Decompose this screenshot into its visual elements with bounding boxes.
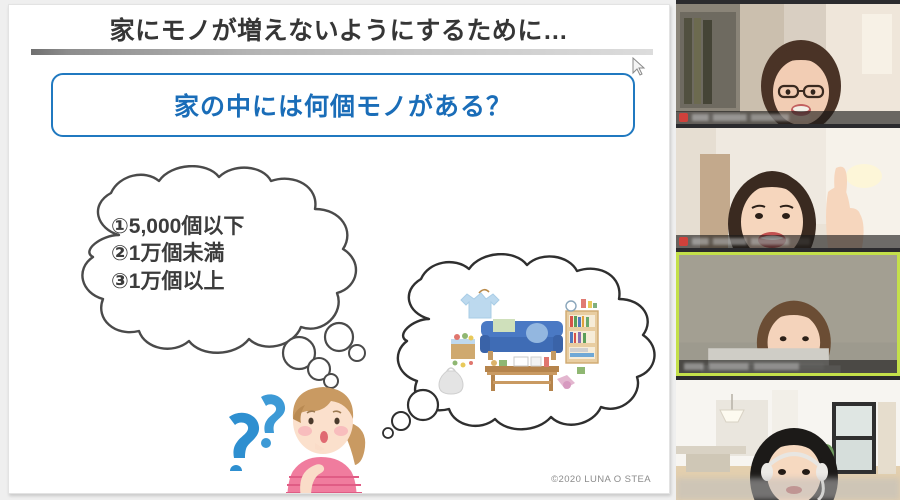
participant-name-1 <box>692 114 810 121</box>
participant-strip <box>676 0 900 500</box>
video-call-window: 家にモノが増えないようにするために… 家の中には何個モノがある？ ①5,000個… <box>0 0 900 500</box>
answer-options-list: ①5,000個以下 ②1万個未満 ③1万個以上 <box>111 213 351 295</box>
participant-tile-2[interactable] <box>676 128 900 248</box>
participant-name-3 <box>684 363 824 370</box>
option-3: ③1万個以上 <box>111 268 351 295</box>
presentation-slide: 家にモノが増えないようにするために… 家の中には何個モノがある？ ①5,000個… <box>8 4 670 494</box>
participant-video-2 <box>676 128 900 248</box>
participant-tile-3[interactable] <box>676 252 900 376</box>
mute-icon-1 <box>679 113 688 122</box>
slide-title: 家にモノが増えないようにするために… <box>9 11 669 47</box>
participant-tile-4[interactable] <box>676 380 900 500</box>
thinking-girl-illustration <box>267 377 377 494</box>
mute-icon-2 <box>679 237 688 246</box>
room-thought-cloud <box>381 253 670 443</box>
participant-video-1 <box>676 4 900 124</box>
participant-video-3 <box>679 255 897 373</box>
mouse-pointer-icon <box>632 57 646 77</box>
copyright-text: ©2020 LUNA O STEA <box>551 474 651 485</box>
participant-name-bar-4 <box>676 478 900 500</box>
cloud-shape-right <box>381 253 670 443</box>
title-divider <box>31 49 653 55</box>
participant-tile-1[interactable] <box>676 4 900 124</box>
option-1: ①5,000個以下 <box>111 213 351 240</box>
participant-name-bar-3 <box>679 360 900 373</box>
option-2: ②1万個未満 <box>111 240 351 267</box>
participant-name-bar-2 <box>676 235 900 248</box>
participant-name-bar-1 <box>676 111 900 124</box>
participant-name-2 <box>692 238 810 245</box>
question-text: 家の中には何個モノがある？ <box>53 75 633 135</box>
screen-share-area: 家にモノが増えないようにするために… 家の中には何個モノがある？ ①5,000個… <box>0 0 676 500</box>
question-box: 家の中には何個モノがある？ <box>51 73 635 137</box>
